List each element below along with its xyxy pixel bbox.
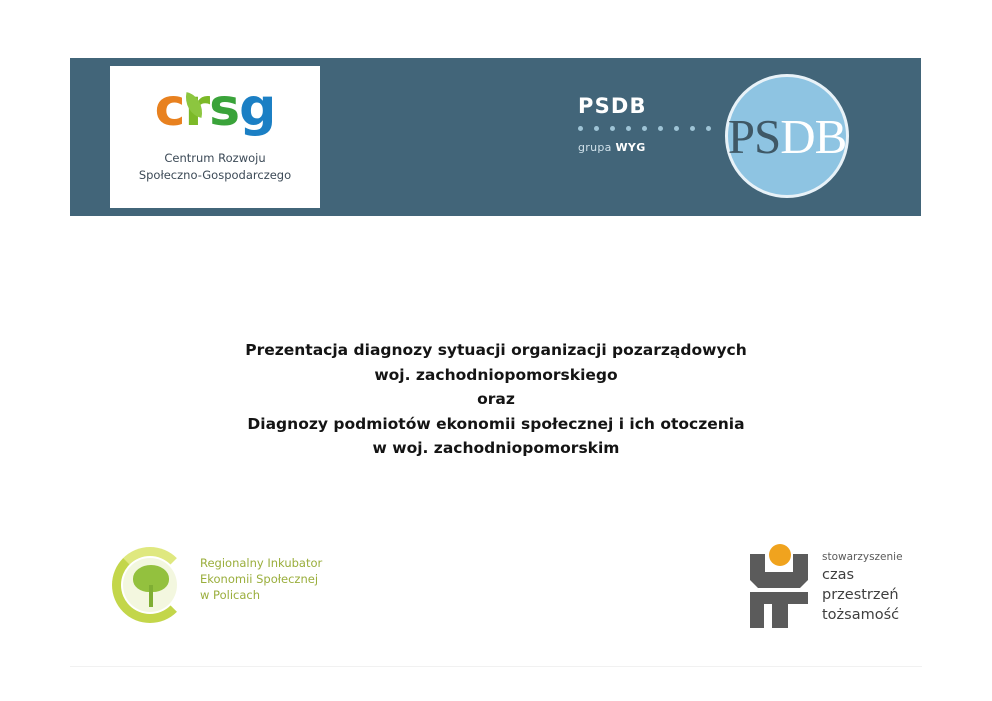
cpt-line-4: tożsamość — [822, 605, 903, 625]
presentation-slide: crsg Centrum Rozwoju Społeczno-Gospodarc… — [0, 0, 992, 701]
ries-line-2: Ekonomii Społecznej — [200, 571, 322, 587]
dot-icon — [626, 126, 631, 131]
psdb-emblem-left: PS — [728, 109, 781, 164]
ries-line-3: w Policach — [200, 587, 322, 603]
dot-icon — [578, 126, 583, 131]
cpt-line-3: przestrzeń — [822, 585, 903, 605]
slide-title: Prezentacja diagnozy sytuacji organizacj… — [0, 338, 992, 461]
dot-icon — [690, 126, 695, 131]
psdb-circle-emblem: PSDB — [725, 74, 849, 198]
psdb-wordmark: PSDB — [578, 96, 748, 117]
stowarzyszenie-cpt-text: stowarzyszenie czas przestrzeń tożsamość — [822, 550, 903, 625]
psdb-logo: PSDB grupa WYG — [578, 96, 748, 154]
footer-divider — [70, 666, 922, 667]
title-line-2: woj. zachodniopomorskiego — [0, 363, 992, 388]
crsg-tagline-line-2: Społeczno-Gospodarczego — [110, 167, 320, 184]
psdb-group-prefix: grupa — [578, 141, 616, 154]
dot-icon — [658, 126, 663, 131]
crsg-tagline-line-1: Centrum Rozwoju — [110, 150, 320, 167]
cpt-line-2: czas — [822, 565, 903, 585]
head-circle-icon — [769, 544, 791, 566]
psdb-emblem-text: PSDB — [728, 112, 847, 161]
header-banner: crsg Centrum Rozwoju Społeczno-Gospodarc… — [70, 58, 921, 216]
dot-icon — [706, 126, 711, 131]
crsg-wordmark: crsg — [110, 82, 320, 134]
figure-mark-icon — [748, 544, 810, 628]
ries-line-1: Regionalny Inkubator — [200, 555, 322, 571]
tree-trunk-icon — [149, 585, 153, 607]
psdb-group-label: grupa WYG — [578, 141, 748, 154]
title-line-3: oraz — [0, 387, 992, 412]
dot-icon — [594, 126, 599, 131]
title-line-4: Diagnozy podmiotów ekonomii społecznej i… — [0, 412, 992, 437]
crsg-logo: crsg Centrum Rozwoju Społeczno-Gospodarc… — [110, 66, 320, 208]
crsg-letter-c: c — [155, 78, 185, 138]
cpt-line-1: stowarzyszenie — [822, 550, 903, 565]
psdb-emblem-right: DB — [780, 109, 846, 164]
body-shape-icon — [750, 592, 808, 628]
crsg-letter-s: s — [209, 78, 239, 138]
title-line-1: Prezentacja diagnozy sytuacji organizacj… — [0, 338, 992, 363]
title-line-5: w woj. zachodniopomorskim — [0, 436, 992, 461]
dot-icon — [642, 126, 647, 131]
crsg-letter-g: g — [239, 78, 275, 138]
regionalny-inkubator-text: Regionalny Inkubator Ekonomii Społecznej… — [200, 555, 322, 603]
crsg-tagline: Centrum Rozwoju Społeczno-Gospodarczego — [110, 150, 320, 184]
stowarzyszenie-cpt-logo: stowarzyszenie czas przestrzeń tożsamość — [748, 544, 928, 630]
psdb-dot-row — [578, 126, 748, 131]
psdb-group-name: WYG — [616, 141, 646, 154]
dot-icon — [610, 126, 615, 131]
regionalny-inkubator-logo: Regionalny Inkubator Ekonomii Społecznej… — [112, 545, 342, 627]
dot-icon — [674, 126, 679, 131]
